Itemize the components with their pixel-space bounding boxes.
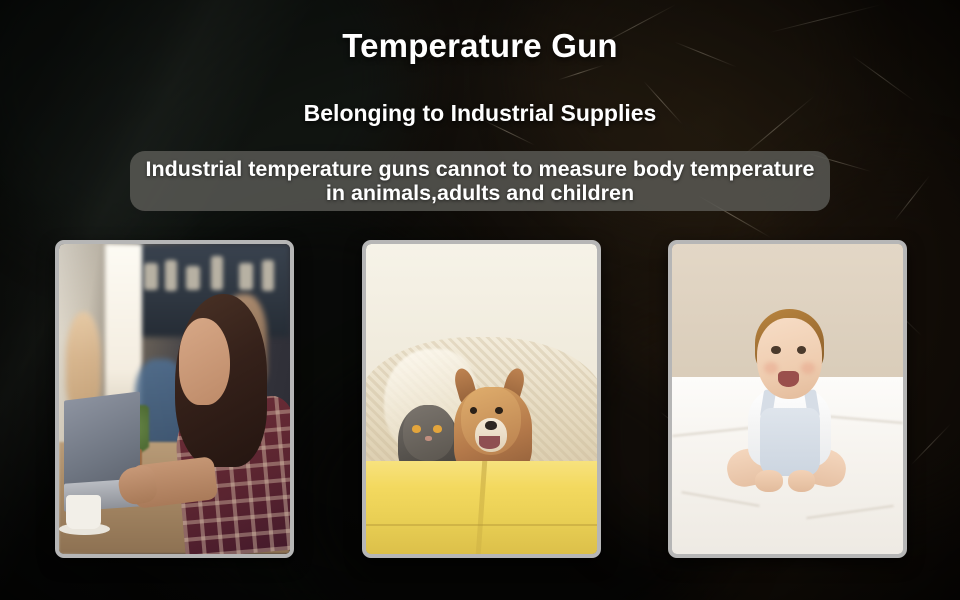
- photo-baby: [672, 244, 903, 554]
- shelf-jar: [262, 260, 274, 291]
- dog-nose: [485, 421, 497, 430]
- warning-notice-text: Industrial temperature guns cannot to me…: [144, 157, 816, 205]
- baby-face: [757, 318, 822, 399]
- cat-head: [403, 405, 454, 461]
- baby-foot: [755, 470, 783, 492]
- cat-eye: [433, 425, 442, 432]
- warning-notice-box: Industrial temperature guns cannot to me…: [130, 151, 830, 211]
- baby-overalls: [760, 408, 820, 476]
- photo-cat-dog: [366, 244, 597, 554]
- shelf-jar: [239, 263, 253, 291]
- cat-nose: [425, 436, 432, 441]
- woman-face: [179, 318, 230, 405]
- baby-eye: [771, 346, 780, 354]
- photo-frame-cat-dog: [362, 240, 601, 558]
- dog-eye: [470, 407, 477, 414]
- dog-eye: [495, 407, 502, 414]
- shelf-jar: [144, 263, 158, 291]
- coffee-cup: [66, 495, 101, 529]
- baby-foot: [788, 470, 816, 492]
- photo-frame-baby: [668, 240, 907, 558]
- photo-frame-woman-laptop: [55, 240, 294, 558]
- baby-mouth: [778, 371, 799, 387]
- couch-seam-line: [366, 524, 597, 526]
- shelf-jar: [186, 266, 200, 291]
- dog-mouth: [479, 436, 500, 448]
- shelf-jar: [165, 260, 177, 291]
- shelf-jar: [211, 256, 223, 290]
- page-subtitle: Belonging to Industrial Supplies: [0, 99, 960, 127]
- photo-woman-laptop: [59, 244, 290, 554]
- product-banner: Temperature Gun Belonging to Industrial …: [0, 0, 960, 600]
- page-title: Temperature Gun: [0, 27, 960, 65]
